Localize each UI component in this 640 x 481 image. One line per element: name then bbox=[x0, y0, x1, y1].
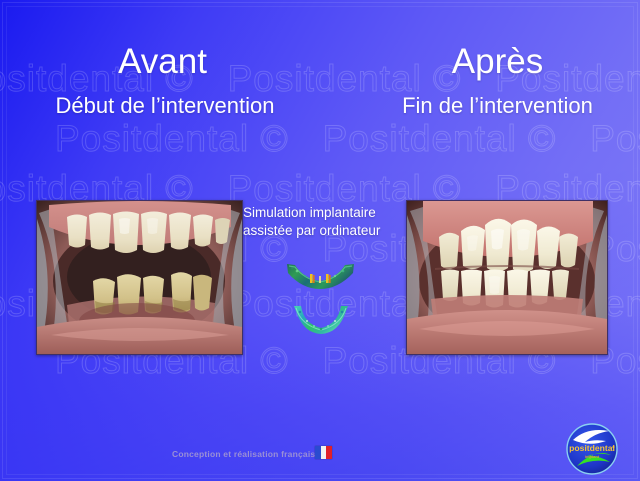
positdental-logo[interactable]: positdental implant bbox=[565, 422, 619, 476]
upper-jaw-3d-scan bbox=[283, 262, 358, 297]
lower-jaw-3d-scan bbox=[292, 305, 350, 338]
watermark-row: Positdental ©Positdental ©Positdental © bbox=[55, 118, 640, 160]
before-column-title: Avant bbox=[40, 42, 285, 82]
after-photo-graphic bbox=[407, 201, 607, 354]
watermark-text: Positdental © bbox=[323, 118, 557, 160]
simulation-caption: Simulation implantaire assistée par ordi… bbox=[243, 204, 403, 240]
simulation-caption-line2: assistée par ordinateur bbox=[243, 222, 403, 240]
after-dental-photo bbox=[406, 200, 608, 355]
slide-canvas: Positdental ©Positdental ©Positdental © … bbox=[0, 0, 640, 481]
lower-jaw-scan-graphic bbox=[292, 305, 350, 338]
after-column-title: Après bbox=[375, 42, 620, 82]
before-dental-photo bbox=[36, 200, 243, 355]
before-column-subtitle: Début de l’intervention bbox=[20, 93, 310, 119]
watermark-text: Positdental © bbox=[590, 118, 640, 160]
footer-credit-text: Conception et réalisation française bbox=[172, 449, 320, 459]
logo-brand-text: positdental bbox=[569, 443, 615, 453]
logo-tagline-text: implant bbox=[585, 454, 600, 459]
simulation-caption-line1: Simulation implantaire bbox=[243, 204, 403, 222]
watermark-text: Positdental © bbox=[55, 118, 289, 160]
before-photo-graphic bbox=[37, 201, 242, 354]
flag-band-red bbox=[326, 446, 332, 459]
upper-jaw-scan-graphic bbox=[283, 262, 358, 297]
french-flag-icon bbox=[315, 446, 332, 459]
positdental-logo-graphic: positdental implant bbox=[565, 422, 619, 476]
after-column-subtitle: Fin de l’intervention bbox=[370, 93, 625, 119]
